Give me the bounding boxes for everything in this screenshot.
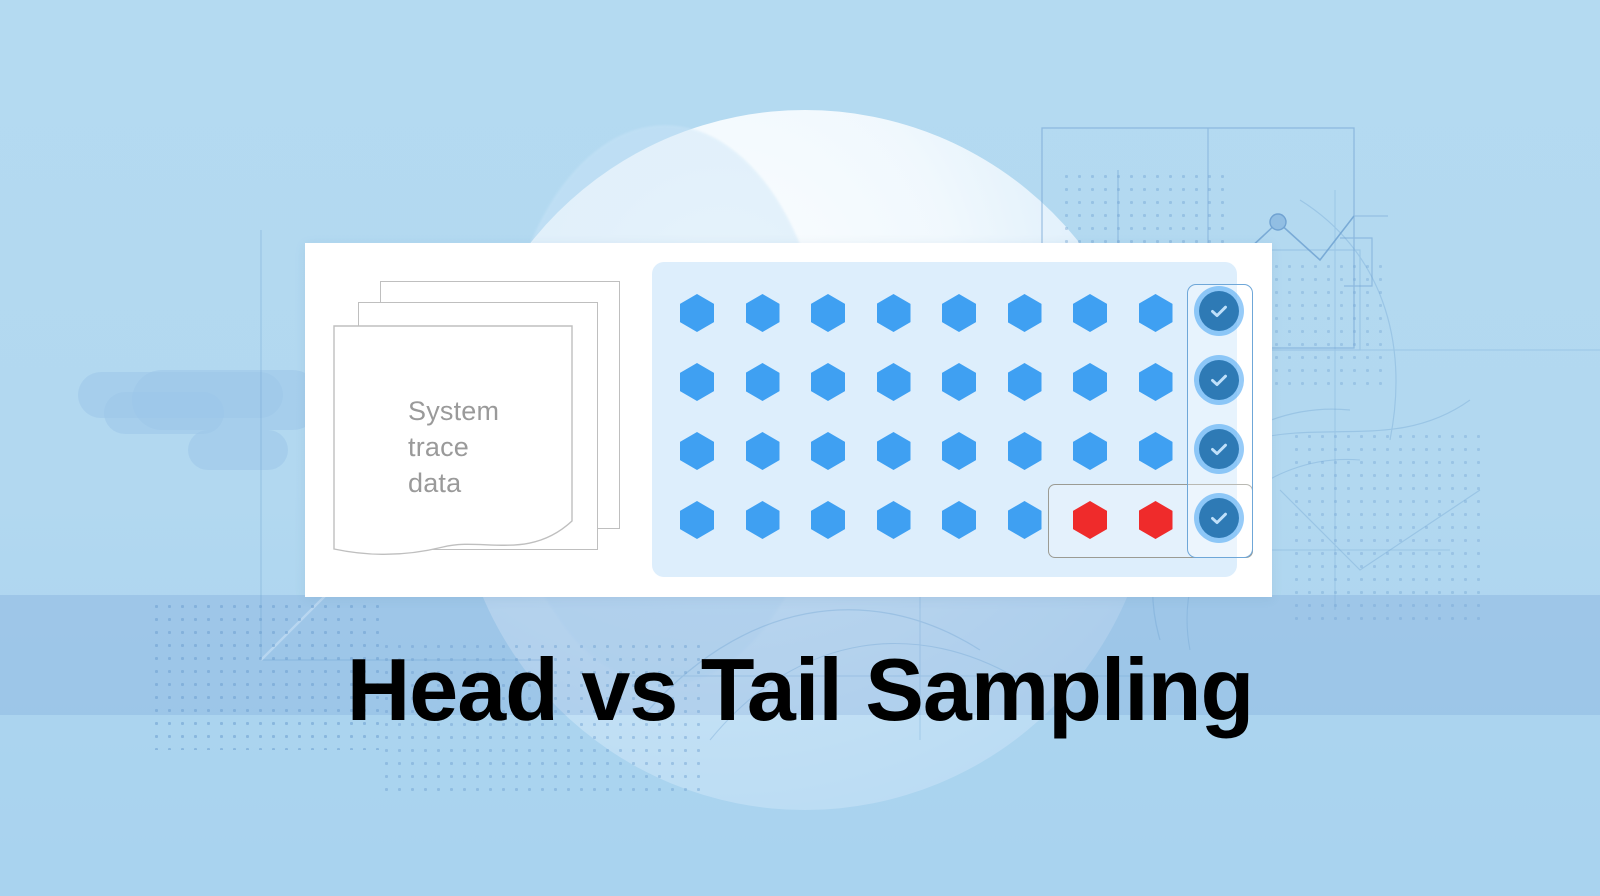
hexagon-icon — [1073, 363, 1107, 401]
dot-texture — [1290, 430, 1490, 620]
hexagon-icon — [746, 432, 780, 470]
hexagon-icon — [942, 294, 976, 332]
hexagon-icon — [1008, 294, 1042, 332]
hexagon-icon — [1139, 432, 1173, 470]
system-trace-documents: System trace data — [330, 281, 630, 571]
hexagon-icon — [942, 363, 976, 401]
hexagon-icon — [1073, 432, 1107, 470]
hexagon-icon — [680, 294, 714, 332]
hero-illustration: System trace data Head vs Tail Sampling — [0, 0, 1600, 896]
hexagon-icon — [877, 501, 911, 539]
hexagon-icon — [1008, 363, 1042, 401]
hexagon-icon — [746, 501, 780, 539]
hexagon-icon — [811, 432, 845, 470]
hexagon-icon — [680, 363, 714, 401]
trace-grid-panel — [652, 262, 1237, 577]
hexagon-icon — [877, 294, 911, 332]
cloud-shape — [104, 392, 224, 434]
document-label-line-1: System — [408, 393, 558, 429]
hexagon-icon — [877, 432, 911, 470]
hexagon-icon — [746, 294, 780, 332]
hexagon-icon — [1008, 432, 1042, 470]
page-title: Head vs Tail Sampling — [0, 640, 1600, 740]
dot-texture — [1270, 260, 1390, 390]
hexagon-icon — [1008, 501, 1042, 539]
check-icon[interactable] — [1199, 360, 1239, 400]
hexagon-icon — [680, 432, 714, 470]
illustration-card: System trace data — [305, 243, 1272, 597]
hexagon-icon — [746, 363, 780, 401]
hexagon-icon — [1139, 363, 1173, 401]
hexagon-icon — [1139, 294, 1173, 332]
hexagon-icon — [811, 294, 845, 332]
hexagon-icon — [1073, 294, 1107, 332]
check-icon[interactable] — [1199, 498, 1239, 538]
hexagon-icon — [811, 363, 845, 401]
hexagon-icon — [877, 363, 911, 401]
document-label-line-2: trace — [408, 429, 558, 465]
hexagon-icon — [811, 501, 845, 539]
document-label: System trace data — [408, 393, 558, 501]
document-label-line-3: data — [408, 465, 558, 501]
hexagon-icon — [680, 501, 714, 539]
hexagon-icon — [942, 501, 976, 539]
check-icon[interactable] — [1199, 291, 1239, 331]
check-icon[interactable] — [1199, 429, 1239, 469]
hexagon-icon — [942, 432, 976, 470]
